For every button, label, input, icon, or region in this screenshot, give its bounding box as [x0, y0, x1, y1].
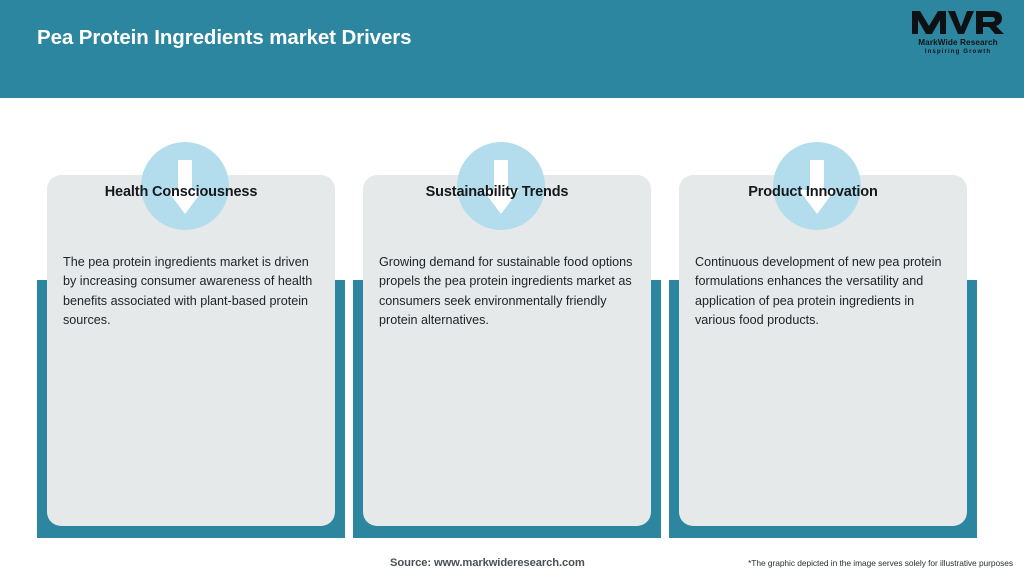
card-body: The pea protein ingredients market is dr…	[63, 253, 321, 331]
card-title: Health Consciousness	[51, 184, 311, 200]
disclaimer-label: *The graphic depicted in the image serve…	[748, 558, 1013, 568]
logo-company-name: MarkWide Research	[906, 38, 1010, 48]
driver-card-1: Health Consciousness The pea protein ing…	[37, 98, 345, 538]
card-title: Product Innovation	[683, 184, 943, 200]
card-title: Sustainability Trends	[367, 184, 627, 200]
logo-tagline: Inspiring Growth	[906, 48, 1010, 56]
mwr-logo-icon	[906, 7, 1010, 37]
card-body: Growing demand for sustainable food opti…	[379, 253, 637, 331]
drivers-card-group: Health Consciousness The pea protein ing…	[0, 98, 1024, 538]
card-body: Continuous development of new pea protei…	[695, 253, 953, 331]
source-label: Source: www.markwideresearch.com	[390, 557, 585, 569]
header-band: Pea Protein Ingredients market Drivers M…	[0, 0, 1024, 98]
driver-card-3: Product Innovation Continuous developmen…	[669, 98, 977, 538]
page-title: Pea Protein Ingredients market Drivers	[37, 26, 411, 50]
driver-card-2: Sustainability Trends Growing demand for…	[353, 98, 661, 538]
brand-logo: MarkWide Research Inspiring Growth	[906, 7, 1010, 59]
